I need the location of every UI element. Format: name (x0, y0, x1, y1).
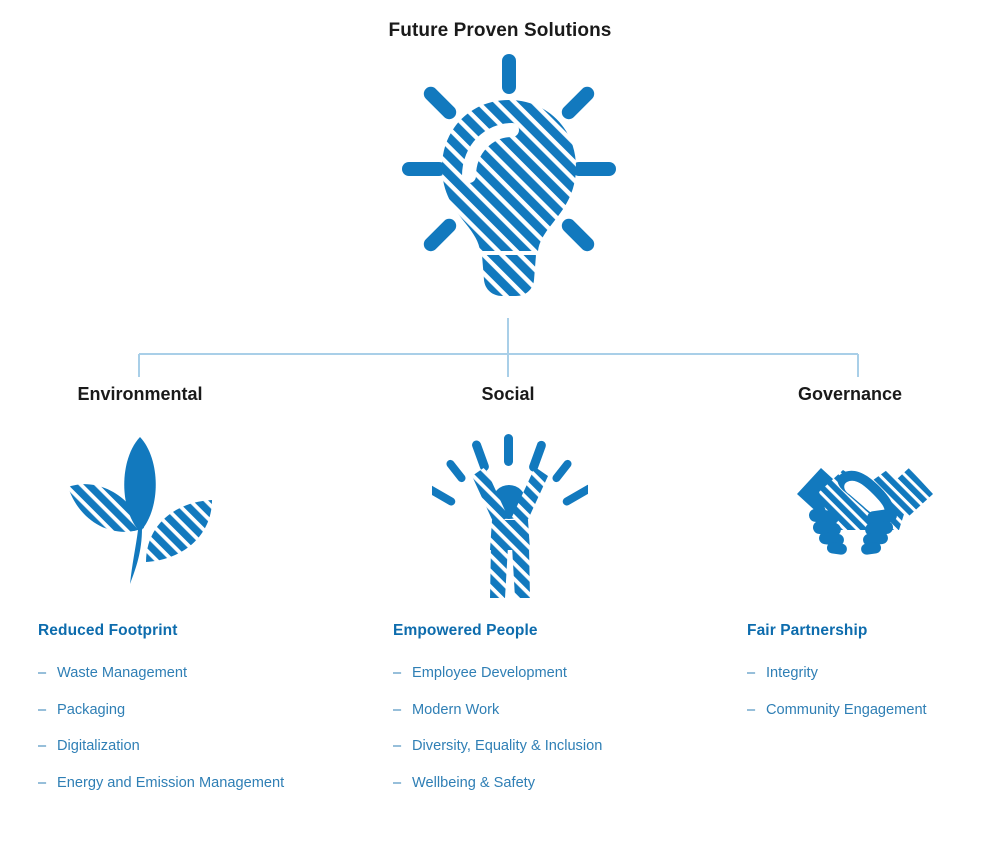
column-social: Empowered People – Employee Development … (393, 622, 693, 809)
list-item-label: Digitalization (57, 738, 140, 754)
column-header-governance: Governance (700, 384, 1000, 405)
dash-bullet-icon: – (38, 699, 46, 721)
list-item-label: Integrity (766, 665, 818, 681)
dash-bullet-icon: – (393, 735, 401, 757)
column-title-fair-partnership: Fair Partnership (747, 622, 997, 640)
column-header-social: Social (358, 384, 658, 405)
dash-bullet-icon: – (38, 772, 46, 794)
list-item-label: Modern Work (412, 702, 499, 718)
column-header-environmental: Environmental (0, 384, 290, 405)
list-item-label: Community Engagement (766, 702, 927, 718)
list-item: – Diversity, Equality & Inclusion (393, 735, 693, 757)
list-item-label: Diversity, Equality & Inclusion (412, 738, 602, 754)
dash-bullet-icon: – (38, 662, 46, 684)
list-item: – Integrity (747, 662, 997, 684)
dash-bullet-icon: – (393, 662, 401, 684)
list-item: – Packaging (38, 699, 338, 721)
dash-bullet-icon: – (747, 699, 755, 721)
list-item: – Employee Development (393, 662, 693, 684)
tree-connector-lines (0, 305, 1000, 385)
list-item-label: Packaging (57, 702, 125, 718)
dash-bullet-icon: – (393, 772, 401, 794)
list-item: – Waste Management (38, 662, 338, 684)
dash-bullet-icon: – (38, 735, 46, 757)
page-title: Future Proven Solutions (0, 20, 1000, 42)
list-item-label: Wellbeing & Safety (412, 775, 535, 791)
lightbulb-icon (394, 52, 624, 297)
list-item-label: Employee Development (412, 665, 567, 681)
list-item: – Energy and Emission Manage­ment (38, 772, 307, 794)
column-governance: Fair Partnership – Integrity – Community… (747, 622, 997, 735)
list-item-label: Energy and Emission Manage­ment (57, 775, 284, 791)
list-item: – Digitalization (38, 735, 338, 757)
list-item: – Modern Work (393, 699, 693, 721)
column-title-empowered-people: Empowered People (393, 622, 693, 640)
dash-bullet-icon: – (747, 662, 755, 684)
celebrating-person-icon (432, 432, 588, 600)
list-item: – Wellbeing & Safety (393, 772, 693, 794)
bullet-list-social: – Employee Development – Modern Work – D… (393, 662, 693, 794)
plant-leaves-icon (62, 432, 218, 592)
column-title-reduced-footprint: Reduced Footprint (38, 622, 338, 640)
dash-bullet-icon: – (393, 699, 401, 721)
handshake-icon (795, 452, 935, 562)
bullet-list-environmental: – Waste Management – Packaging – Digital… (38, 662, 338, 794)
list-item: – Community Engagement (747, 699, 997, 721)
column-environmental: Reduced Footprint – Waste Management – P… (38, 622, 338, 809)
list-item-label: Waste Management (57, 665, 187, 681)
bullet-list-governance: – Integrity – Community Engagement (747, 662, 997, 721)
